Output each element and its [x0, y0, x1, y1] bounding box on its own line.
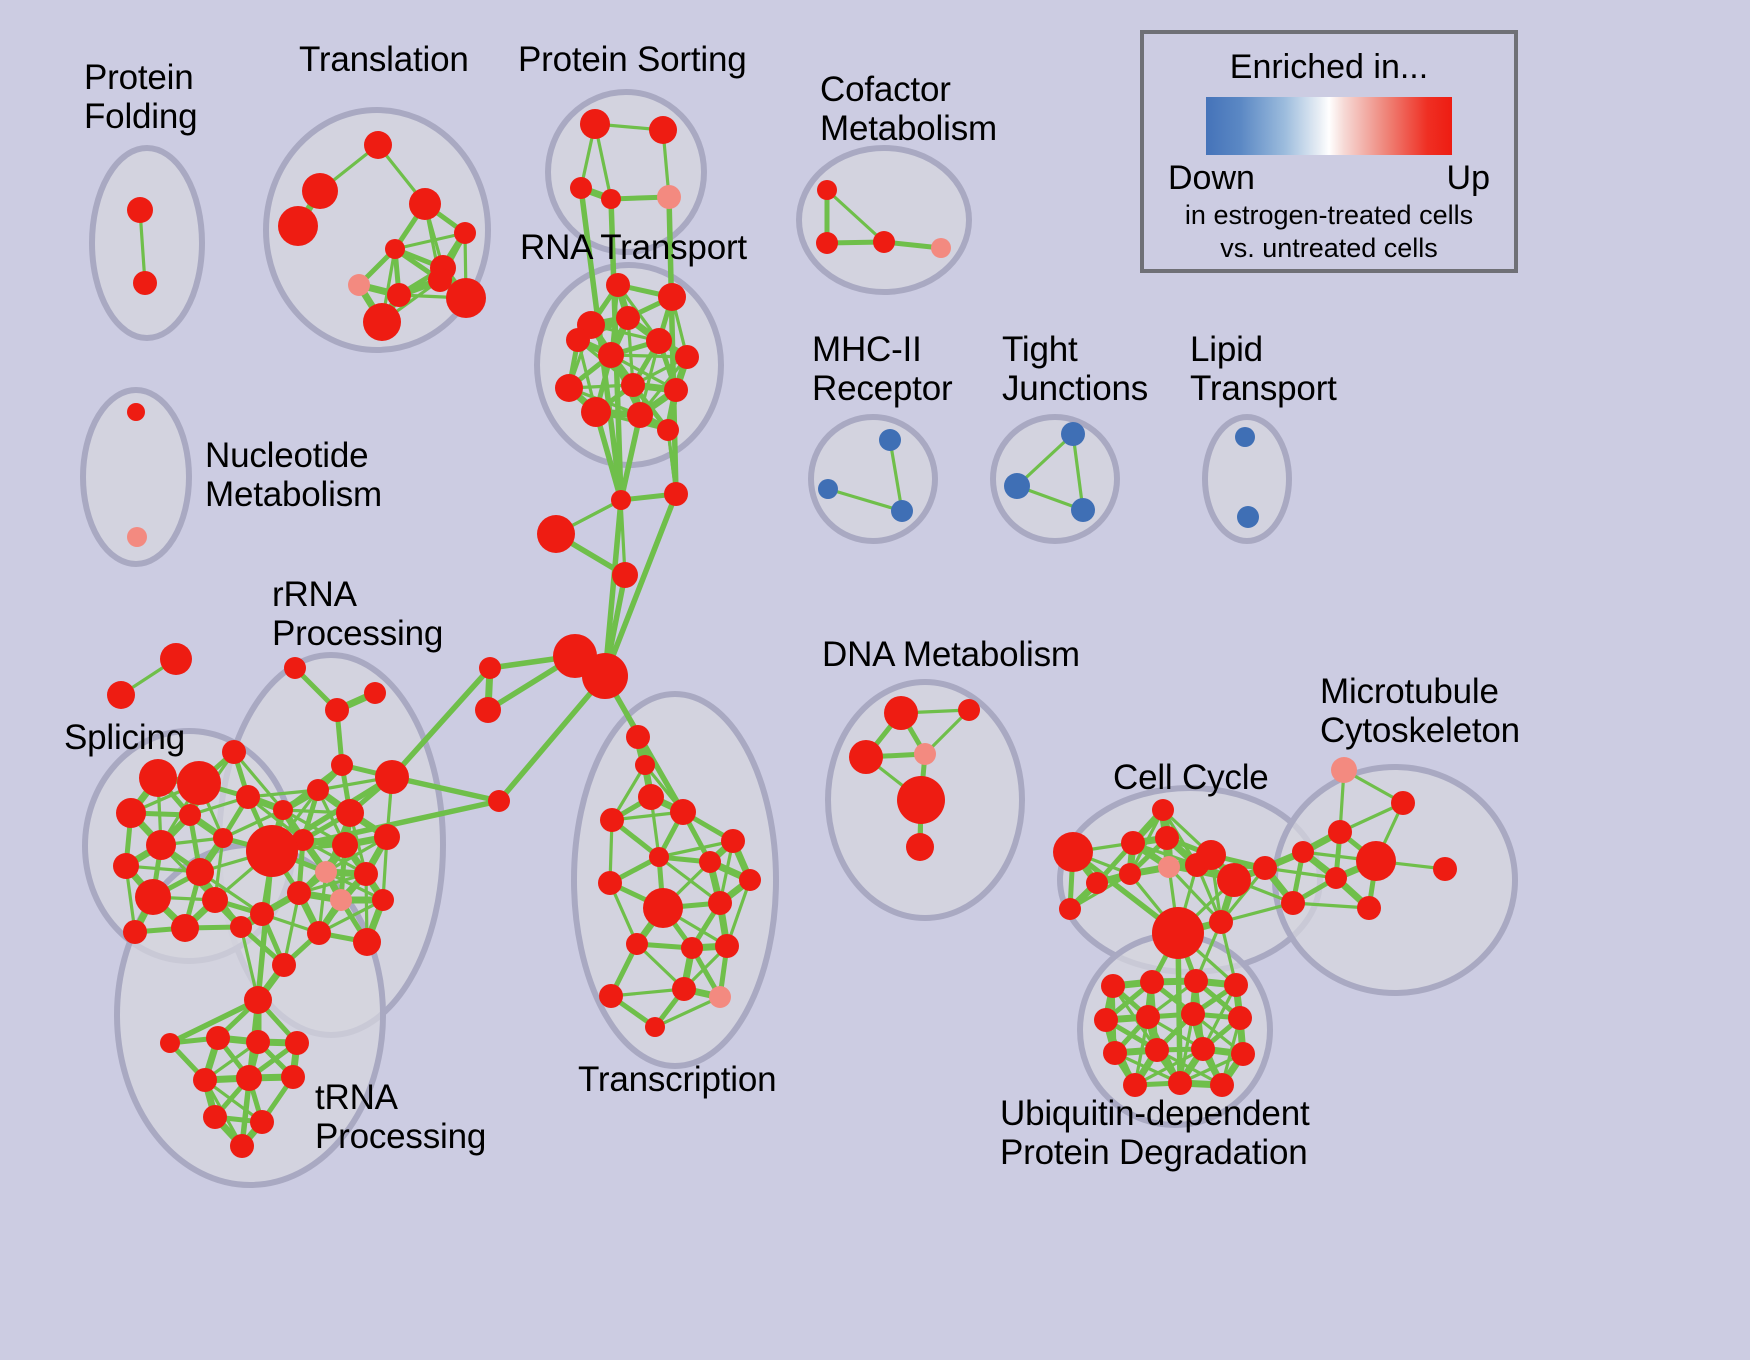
network-node[interactable] — [171, 914, 199, 942]
network-node[interactable] — [336, 799, 364, 827]
cluster-label-rna-transport: RNA Transport — [520, 228, 747, 267]
network-node[interactable] — [348, 274, 370, 296]
legend-title: Enriched in... — [1144, 48, 1514, 87]
network-node[interactable] — [627, 402, 653, 428]
network-node[interactable] — [488, 790, 510, 812]
network-node[interactable] — [278, 206, 318, 246]
network-node[interactable] — [1235, 427, 1255, 447]
network-node[interactable] — [250, 902, 274, 926]
network-node[interactable] — [127, 403, 145, 421]
network-node[interactable] — [649, 847, 669, 867]
network-node[interactable] — [1152, 799, 1174, 821]
network-node[interactable] — [897, 776, 945, 824]
network-node[interactable] — [681, 937, 703, 959]
network-figure: Protein FoldingTranslationProtein Sortin… — [0, 0, 1750, 1360]
network-node[interactable] — [287, 881, 311, 905]
network-node[interactable] — [244, 986, 272, 1014]
network-node[interactable] — [555, 374, 583, 402]
network-node[interactable] — [387, 283, 411, 307]
cluster-label-rrna-processing: rRNA Processing — [272, 575, 443, 653]
network-node[interactable] — [1231, 1042, 1255, 1066]
cluster-hull — [92, 148, 202, 338]
network-node[interactable] — [699, 851, 721, 873]
network-node[interactable] — [664, 378, 688, 402]
cluster-label-transcription: Transcription — [578, 1060, 776, 1099]
network-node[interactable] — [645, 1017, 665, 1037]
network-node[interactable] — [1094, 1008, 1118, 1032]
network-node[interactable] — [1059, 898, 1081, 920]
network-node[interactable] — [1357, 896, 1381, 920]
network-node[interactable] — [1196, 840, 1226, 870]
legend-panel: Enriched in... Down Up in estrogen-treat… — [1140, 30, 1518, 273]
network-node[interactable] — [914, 743, 936, 765]
network-node[interactable] — [116, 798, 146, 828]
network-node[interactable] — [272, 953, 296, 977]
network-node[interactable] — [385, 239, 405, 259]
network-node[interactable] — [127, 197, 153, 223]
network-node[interactable] — [307, 779, 329, 801]
network-node[interactable] — [475, 697, 501, 723]
network-node[interactable] — [307, 921, 331, 945]
network-node[interactable] — [721, 829, 745, 853]
network-node[interactable] — [612, 562, 638, 588]
network-node[interactable] — [658, 283, 686, 311]
network-node[interactable] — [598, 342, 624, 368]
network-node[interactable] — [1071, 498, 1095, 522]
network-node[interactable] — [325, 698, 349, 722]
network-node[interactable] — [1103, 1041, 1127, 1065]
network-node[interactable] — [222, 740, 246, 764]
network-node[interactable] — [1136, 1005, 1160, 1029]
network-node[interactable] — [849, 740, 883, 774]
network-node[interactable] — [273, 800, 293, 820]
network-node[interactable] — [879, 429, 901, 451]
network-node[interactable] — [302, 173, 338, 209]
cluster-label-nucleotide-metabolism: Nucleotide Metabolism — [205, 436, 382, 514]
network-node[interactable] — [816, 232, 838, 254]
network-node[interactable] — [284, 657, 306, 679]
network-node[interactable] — [330, 889, 352, 911]
network-node[interactable] — [446, 278, 486, 318]
network-node[interactable] — [285, 1031, 309, 1055]
network-node[interactable] — [139, 759, 177, 797]
network-node[interactable] — [127, 527, 147, 547]
network-node[interactable] — [1433, 857, 1457, 881]
cluster-label-translation: Translation — [299, 40, 469, 79]
legend-caption-line1: in estrogen-treated cells — [1144, 200, 1514, 231]
network-node[interactable] — [206, 1026, 230, 1050]
network-node[interactable] — [635, 755, 655, 775]
cluster-label-ubiquitin-protein-degradation: Ubiquitin-dependent Protein Degradation — [1000, 1094, 1310, 1172]
network-node[interactable] — [570, 177, 592, 199]
cluster-label-cofactor-metabolism: Cofactor Metabolism — [820, 70, 997, 148]
network-node[interactable] — [582, 653, 628, 699]
network-node[interactable] — [1140, 970, 1164, 994]
network-node[interactable] — [626, 933, 648, 955]
network-node[interactable] — [1184, 969, 1208, 993]
cluster-label-splicing: Splicing — [64, 718, 185, 757]
network-node[interactable] — [374, 824, 400, 850]
network-node[interactable] — [1086, 872, 1108, 894]
network-node[interactable] — [1121, 831, 1145, 855]
cluster-label-dna-metabolism: DNA Metabolism — [822, 635, 1080, 674]
network-node[interactable] — [643, 888, 683, 928]
cluster-label-lipid-transport: Lipid Transport — [1190, 330, 1337, 408]
network-node[interactable] — [160, 643, 192, 675]
legend-high-label: Up — [1447, 159, 1490, 198]
cluster-label-mhc-ii-receptor: MHC-II Receptor — [812, 330, 952, 408]
network-node[interactable] — [202, 887, 228, 913]
network-node[interactable] — [611, 490, 631, 510]
network-node[interactable] — [1209, 910, 1233, 934]
network-node[interactable] — [246, 1030, 270, 1054]
network-node[interactable] — [160, 1033, 180, 1053]
cluster-label-trna-processing: tRNA Processing — [315, 1078, 486, 1156]
network-node[interactable] — [817, 180, 837, 200]
network-node[interactable] — [884, 696, 918, 730]
legend-colorbar — [1206, 97, 1452, 155]
network-node[interactable] — [664, 482, 688, 506]
network-node[interactable] — [1145, 1038, 1169, 1062]
network-node[interactable] — [1155, 826, 1179, 850]
network-node[interactable] — [315, 861, 337, 883]
network-node[interactable] — [657, 419, 679, 441]
network-node[interactable] — [281, 1065, 305, 1089]
network-node[interactable] — [598, 871, 622, 895]
network-node[interactable] — [230, 1134, 254, 1158]
network-node[interactable] — [891, 500, 913, 522]
network-node[interactable] — [621, 373, 645, 397]
network-node[interactable] — [606, 273, 630, 297]
cluster-hull — [811, 417, 935, 541]
network-node[interactable] — [363, 303, 401, 341]
cluster-label-tight-junctions: Tight Junctions — [1002, 330, 1148, 408]
network-node[interactable] — [1325, 867, 1347, 889]
network-node[interactable] — [133, 271, 157, 295]
network-node[interactable] — [113, 853, 139, 879]
network-node[interactable] — [599, 984, 623, 1008]
network-node[interactable] — [107, 681, 135, 709]
network-node[interactable] — [1053, 832, 1093, 872]
network-node[interactable] — [931, 238, 951, 258]
cluster-label-cell-cycle: Cell Cycle — [1113, 758, 1269, 797]
network-node[interactable] — [1181, 1002, 1205, 1026]
network-node[interactable] — [146, 830, 176, 860]
network-node[interactable] — [177, 761, 221, 805]
network-node[interactable] — [1224, 973, 1248, 997]
network-node[interactable] — [1391, 791, 1415, 815]
network-node[interactable] — [428, 268, 452, 292]
network-node[interactable] — [906, 833, 934, 861]
network-node[interactable] — [454, 222, 476, 244]
network-node[interactable] — [1331, 757, 1357, 783]
network-node[interactable] — [1101, 974, 1125, 998]
network-node[interactable] — [236, 1065, 262, 1091]
network-node[interactable] — [364, 682, 386, 704]
network-node[interactable] — [1281, 891, 1305, 915]
network-node[interactable] — [1158, 856, 1180, 878]
network-node[interactable] — [1152, 907, 1204, 959]
network-node[interactable] — [1004, 473, 1030, 499]
network-node[interactable] — [364, 131, 392, 159]
network-node[interactable] — [649, 116, 677, 144]
network-node[interactable] — [354, 862, 378, 886]
network-node[interactable] — [230, 916, 252, 938]
network-node[interactable] — [332, 832, 358, 858]
network-node[interactable] — [479, 657, 501, 679]
network-node[interactable] — [203, 1105, 227, 1129]
cluster-label-protein-folding: Protein Folding — [84, 58, 197, 136]
network-node[interactable] — [1253, 856, 1277, 880]
network-node[interactable] — [616, 306, 640, 330]
network-node[interactable] — [626, 725, 650, 749]
network-node[interactable] — [739, 869, 761, 891]
network-node[interactable] — [670, 799, 696, 825]
network-node[interactable] — [638, 784, 664, 810]
network-node[interactable] — [375, 760, 409, 794]
network-node[interactable] — [537, 515, 575, 553]
network-node[interactable] — [193, 1068, 217, 1092]
network-node[interactable] — [1168, 1071, 1192, 1095]
network-node[interactable] — [600, 808, 624, 832]
network-node[interactable] — [179, 804, 201, 826]
network-node[interactable] — [1191, 1037, 1215, 1061]
network-node[interactable] — [1237, 506, 1259, 528]
network-node[interactable] — [873, 231, 895, 253]
network-node[interactable] — [566, 328, 590, 352]
network-node[interactable] — [581, 397, 611, 427]
network-node[interactable] — [601, 189, 621, 209]
network-node[interactable] — [657, 185, 681, 209]
network-node[interactable] — [675, 345, 699, 369]
network-node[interactable] — [708, 891, 732, 915]
network-node[interactable] — [1356, 841, 1396, 881]
network-node[interactable] — [353, 928, 381, 956]
network-node[interactable] — [958, 699, 980, 721]
cluster-label-microtubule-cytoskeleton: Microtubule Cytoskeleton — [1320, 672, 1520, 750]
network-node[interactable] — [123, 920, 147, 944]
network-node[interactable] — [1328, 820, 1352, 844]
network-node[interactable] — [246, 825, 298, 877]
network-node[interactable] — [818, 479, 838, 499]
network-node[interactable] — [186, 858, 214, 886]
network-node[interactable] — [672, 977, 696, 1001]
network-node[interactable] — [236, 785, 260, 809]
network-node[interactable] — [1292, 841, 1314, 863]
network-node[interactable] — [1228, 1006, 1252, 1030]
network-node[interactable] — [1061, 422, 1085, 446]
network-node[interactable] — [709, 986, 731, 1008]
network-node[interactable] — [409, 188, 441, 220]
network-node[interactable] — [1119, 863, 1141, 885]
network-node[interactable] — [715, 934, 739, 958]
network-node[interactable] — [372, 889, 394, 911]
legend-caption-line2: vs. untreated cells — [1144, 233, 1514, 264]
network-node[interactable] — [331, 754, 353, 776]
cluster-label-protein-sorting: Protein Sorting — [518, 40, 747, 79]
network-node[interactable] — [580, 109, 610, 139]
network-node[interactable] — [135, 879, 171, 915]
network-node[interactable] — [646, 328, 672, 354]
network-node[interactable] — [213, 828, 233, 848]
network-node[interactable] — [250, 1110, 274, 1134]
legend-low-label: Down — [1168, 159, 1255, 198]
network-node[interactable] — [1217, 863, 1251, 897]
